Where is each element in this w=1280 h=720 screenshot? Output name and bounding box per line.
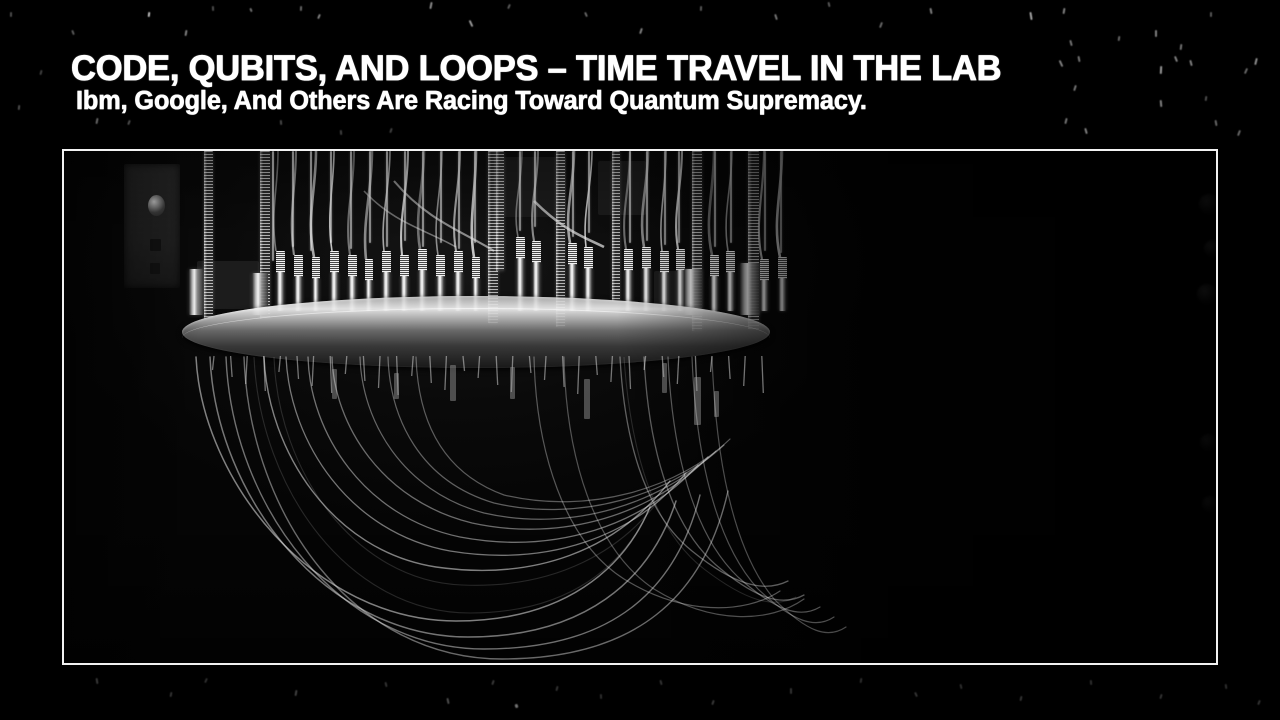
particle xyxy=(300,6,302,11)
particle xyxy=(96,678,99,684)
particle xyxy=(514,704,518,709)
particle xyxy=(446,698,449,704)
particle xyxy=(469,20,474,27)
particle xyxy=(148,12,151,17)
particle xyxy=(1174,56,1178,62)
cable-drop xyxy=(478,356,480,378)
particle xyxy=(170,692,173,697)
particle xyxy=(317,14,321,19)
particle xyxy=(1064,118,1067,124)
particle xyxy=(1062,8,1065,14)
inline-connector xyxy=(510,367,515,399)
particle xyxy=(1077,56,1080,62)
particle xyxy=(1019,696,1022,701)
quantum-computer-photo xyxy=(64,151,1216,663)
page-title: CODE, QUBITS, AND LOOPS – TIME TRAVEL IN… xyxy=(71,50,1001,88)
particle xyxy=(639,28,643,34)
cable-drop xyxy=(312,356,314,386)
particle xyxy=(914,692,918,697)
cable-drop xyxy=(363,356,365,381)
particle xyxy=(1254,58,1258,65)
cable-drop xyxy=(430,356,432,383)
inline-connector xyxy=(394,373,399,399)
hanging-cable-bundle xyxy=(64,151,1216,663)
particle xyxy=(1189,60,1192,66)
particle xyxy=(184,30,187,36)
particle xyxy=(1205,96,1208,101)
cable-drop xyxy=(611,356,613,382)
cable-drop xyxy=(744,356,746,386)
particle xyxy=(280,120,282,125)
particle xyxy=(1160,66,1162,74)
particle xyxy=(1118,36,1121,41)
particle xyxy=(10,12,12,17)
cable-drop xyxy=(545,356,547,380)
particle xyxy=(1180,44,1183,50)
particle xyxy=(1090,680,1092,685)
particle xyxy=(212,6,214,11)
hanging-cable-ghost xyxy=(624,357,796,602)
cable-drop xyxy=(330,356,332,393)
particle xyxy=(860,678,863,683)
particle xyxy=(711,700,715,705)
particle xyxy=(1237,130,1241,136)
particle xyxy=(1159,694,1162,699)
hanging-cable xyxy=(196,357,650,621)
particle xyxy=(389,128,393,133)
particle xyxy=(600,694,602,699)
cable-drop xyxy=(578,356,580,394)
particle xyxy=(18,105,21,110)
hanging-cable xyxy=(668,357,820,612)
particle xyxy=(879,22,883,28)
cable-drop xyxy=(629,356,631,389)
particle xyxy=(71,30,75,35)
cable-drop xyxy=(529,356,531,373)
hanging-cable xyxy=(644,357,804,600)
cable-drop xyxy=(463,356,465,371)
particle xyxy=(1225,684,1228,689)
particle xyxy=(700,6,702,11)
particle xyxy=(249,8,252,12)
particle xyxy=(1244,68,1248,74)
particle xyxy=(39,70,42,75)
hanging-cable xyxy=(244,357,728,659)
hanging-cable xyxy=(692,357,834,623)
particle xyxy=(429,2,432,9)
particle xyxy=(929,8,932,14)
particle xyxy=(1210,12,1212,17)
particle xyxy=(294,690,297,696)
inline-connector xyxy=(450,365,456,401)
slide-canvas: CODE, QUBITS, AND LOOPS – TIME TRAVEL IN… xyxy=(0,0,1280,720)
particle xyxy=(1029,12,1032,20)
particle xyxy=(95,118,98,124)
inline-connector xyxy=(662,363,667,393)
cable-drop xyxy=(445,356,447,390)
hanging-cable xyxy=(564,357,804,617)
particle xyxy=(340,130,342,135)
cable-drop xyxy=(379,356,381,388)
cable-drop xyxy=(677,356,679,384)
cable-drop xyxy=(412,356,414,376)
cable-drop xyxy=(231,356,233,377)
particle xyxy=(659,680,662,685)
cable-drop xyxy=(213,356,215,370)
particle xyxy=(1069,40,1072,46)
particle xyxy=(774,14,778,20)
particle xyxy=(1214,120,1217,126)
cable-drop xyxy=(496,356,498,385)
particle xyxy=(555,686,558,691)
cable-drop xyxy=(762,356,764,393)
particle xyxy=(204,678,208,683)
particle xyxy=(1155,30,1157,37)
particle xyxy=(1257,700,1261,705)
particle xyxy=(491,680,495,685)
particle xyxy=(1059,60,1064,67)
particle xyxy=(790,688,792,694)
particle xyxy=(584,12,588,17)
cable-drop xyxy=(596,356,598,375)
cable-drop xyxy=(345,356,347,374)
page-subtitle: Ibm, Google, And Others Are Racing Towar… xyxy=(76,87,867,115)
cable-drop xyxy=(729,356,731,379)
particle xyxy=(1073,85,1077,91)
particle xyxy=(1084,128,1088,134)
particle xyxy=(507,4,511,9)
cable-drop xyxy=(279,356,281,372)
cable-drop xyxy=(297,356,299,379)
particle xyxy=(1160,100,1163,107)
particle xyxy=(827,2,830,7)
inline-connector xyxy=(584,379,590,419)
media-frame xyxy=(62,149,1218,665)
particle xyxy=(384,682,387,687)
particle xyxy=(959,684,962,689)
particle xyxy=(127,120,131,125)
